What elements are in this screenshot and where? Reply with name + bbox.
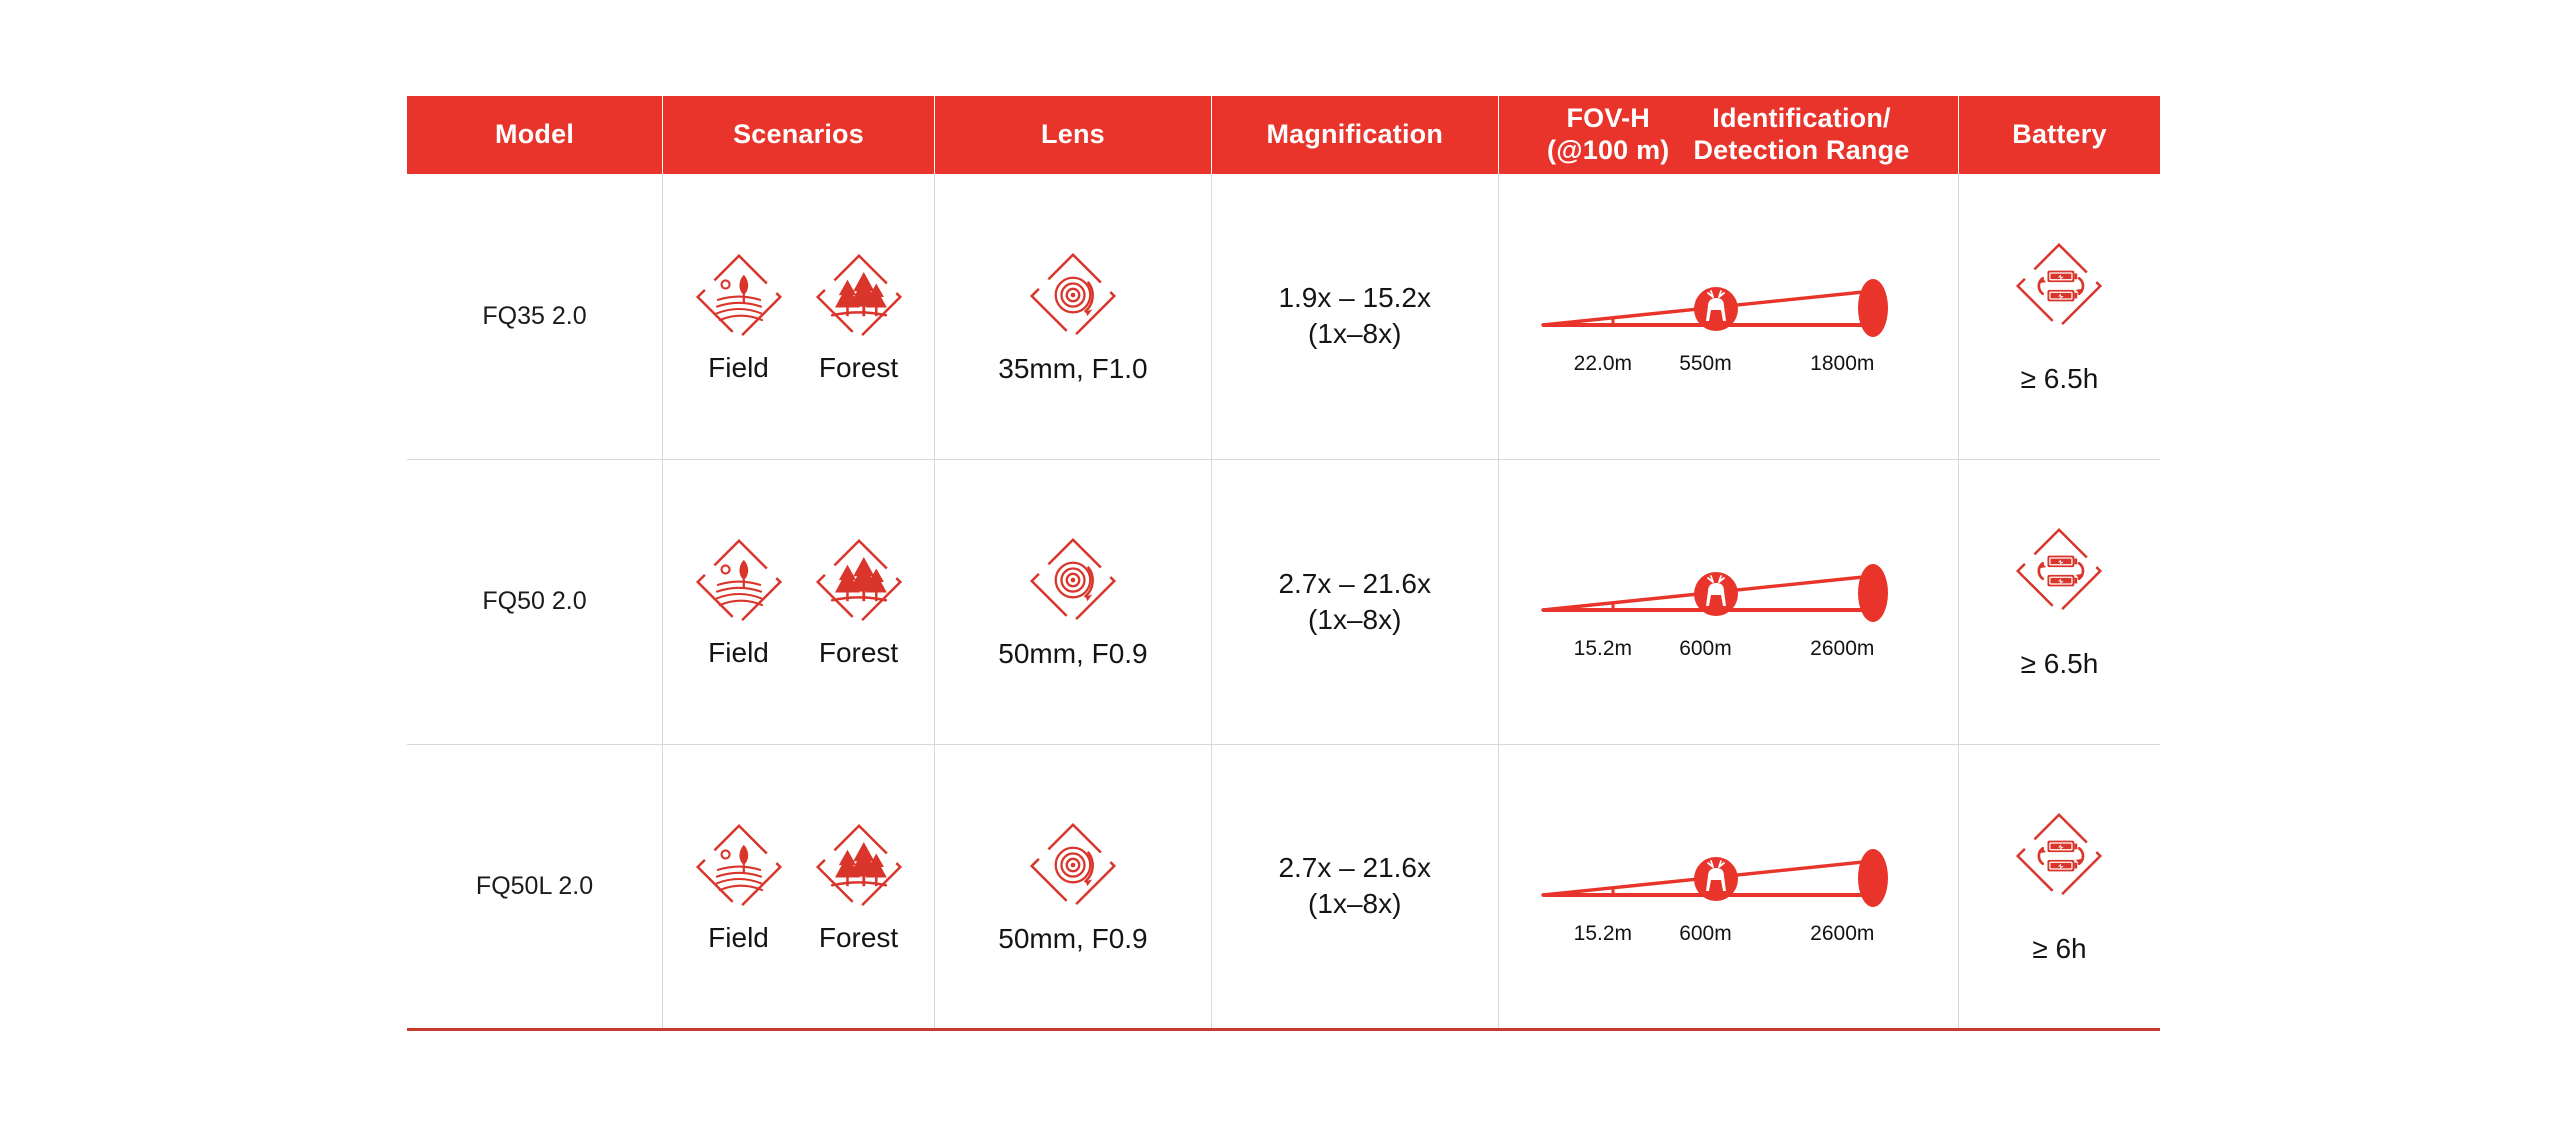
cell-scenarios: Field [663,744,935,1029]
model-name: FQ50 2.0 [407,587,662,616]
column-header-detection-line2: Detection Range [1693,135,1909,167]
identification-range-value: 600m [1679,922,1732,946]
scenario-label: Field [708,637,769,669]
column-header-battery: Battery [1958,96,2160,174]
column-header-lens: Lens [935,96,1212,174]
cell-lens: 35mm, F1.0 [935,174,1212,459]
scenario-forest: Forest [804,819,914,954]
cell-battery: ≥ 6h [1958,744,2160,1029]
column-header-model: Model [407,96,663,174]
magnification-digital: (1x–8x) [1212,602,1498,638]
column-header-magnification-label: Magnification [1212,119,1498,151]
field-icon [691,534,787,635]
battery-label: ≥ 6.5h [2021,648,2099,680]
scenario-field: Field [684,534,794,669]
field-icon [691,249,787,350]
scenario-label: Field [708,352,769,384]
product-comparison-table: Model Scenarios Lens Magnification FOV-H… [407,96,2160,1031]
magnification-range: 2.7x – 21.6x [1212,566,1498,602]
cell-model: FQ50 2.0 [407,459,663,744]
battery-swap-icon [2011,523,2107,624]
cell-battery: ≥ 6.5h [1958,459,2160,744]
forest-icon [811,249,907,350]
magnification-range: 1.9x – 15.2x [1212,280,1498,316]
cell-detection-range: 15.2m 600m 2600m [1498,459,1958,744]
lens-focus-icon [1025,818,1121,919]
table-row: FQ50L 2.0 [407,744,2160,1029]
forest-icon [811,819,907,920]
detection-range-value: 1800m [1810,352,1874,376]
column-header-fov: FOV-H (@100 m) [1547,103,1669,167]
cell-magnification: 2.7x – 21.6x (1x–8x) [1211,459,1498,744]
detection-range-value: 2600m [1810,922,1874,946]
model-name: FQ35 2.0 [407,302,662,331]
fov-value: 15.2m [1574,922,1632,946]
cell-scenarios: Field [663,459,935,744]
forest-icon [811,534,907,635]
column-header-detection-line1: Identification/ [1693,103,1909,135]
cell-lens: 50mm, F0.9 [935,459,1212,744]
cell-detection-range: 22.0m 550m 1800m [1498,174,1958,459]
table-row: FQ50 2.0 [407,459,2160,744]
detection-cone-icon [1538,253,1918,350]
lens-focus-icon [1025,533,1121,634]
identification-range-value: 600m [1679,637,1732,661]
fov-value: 22.0m [1574,352,1632,376]
cell-battery: ≥ 6.5h [1958,174,2160,459]
lens-focus-icon [1025,248,1121,349]
field-icon [691,819,787,920]
table-header: Model Scenarios Lens Magnification FOV-H… [407,96,2160,174]
column-header-scenarios-label: Scenarios [663,119,934,151]
magnification-digital: (1x–8x) [1212,886,1498,922]
scenario-label: Forest [819,637,898,669]
scenario-forest: Forest [804,249,914,384]
table-body: FQ35 2.0 [407,174,2160,1029]
column-header-model-label: Model [407,119,662,151]
model-name: FQ50L 2.0 [407,872,662,901]
table-header-row: Model Scenarios Lens Magnification FOV-H… [407,96,2160,174]
lens-label: 50mm, F0.9 [998,638,1147,670]
column-header-detection-range: Identification/ Detection Range [1693,103,1909,167]
scenario-label: Field [708,922,769,954]
column-header-magnification: Magnification [1211,96,1498,174]
column-header-scenarios: Scenarios [663,96,935,174]
lens-label: 35mm, F1.0 [998,353,1147,385]
detection-range-value: 2600m [1810,637,1874,661]
cell-model: FQ50L 2.0 [407,744,663,1029]
magnification-range: 2.7x – 21.6x [1212,850,1498,886]
battery-label: ≥ 6h [2032,933,2086,965]
detection-cone-icon [1538,823,1918,920]
battery-swap-icon [2011,808,2107,909]
battery-label: ≥ 6.5h [2021,363,2099,395]
cell-magnification: 2.7x – 21.6x (1x–8x) [1211,744,1498,1029]
detection-cone-icon [1538,538,1918,635]
cell-magnification: 1.9x – 15.2x (1x–8x) [1211,174,1498,459]
table-row: FQ35 2.0 [407,174,2160,459]
scenario-field: Field [684,819,794,954]
magnification-digital: (1x–8x) [1212,316,1498,352]
cell-detection-range: 15.2m 600m 2600m [1498,744,1958,1029]
column-header-fov-line1: FOV-H [1547,103,1669,135]
scenario-label: Forest [819,352,898,384]
cell-scenarios: Field [663,174,935,459]
cell-model: FQ35 2.0 [407,174,663,459]
battery-swap-icon [2011,238,2107,339]
scenario-forest: Forest [804,534,914,669]
column-header-battery-label: Battery [1959,119,2160,151]
scenario-field: Field [684,249,794,384]
fov-value: 15.2m [1574,637,1632,661]
column-header-lens-label: Lens [935,119,1211,151]
identification-range-value: 550m [1679,352,1732,376]
column-header-fov-detection: FOV-H (@100 m) Identification/ Detection… [1498,96,1958,174]
cell-lens: 50mm, F0.9 [935,744,1212,1029]
column-header-fov-line2: (@100 m) [1547,135,1669,167]
lens-label: 50mm, F0.9 [998,923,1147,955]
scenario-label: Forest [819,922,898,954]
